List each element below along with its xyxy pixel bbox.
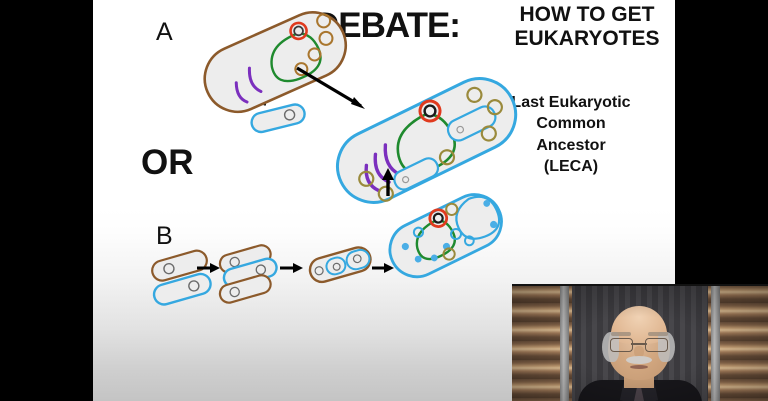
archaeon-a-membrane bbox=[194, 2, 356, 122]
leca-membrane bbox=[325, 66, 527, 214]
cell-archaeon-b3 bbox=[307, 245, 373, 285]
cell-proto-eukaryote bbox=[381, 185, 511, 286]
arrow-b-step3 bbox=[372, 263, 394, 273]
cell-leca bbox=[325, 66, 527, 214]
cell-archaeon-a bbox=[194, 2, 356, 122]
video-border bbox=[512, 284, 768, 401]
speaker-video-overlay[interactable] bbox=[512, 284, 768, 401]
screen: DEBATE: HOW TO GET EUKARYOTES A B OR + +… bbox=[0, 0, 768, 401]
arrow-b-step2 bbox=[280, 263, 303, 273]
